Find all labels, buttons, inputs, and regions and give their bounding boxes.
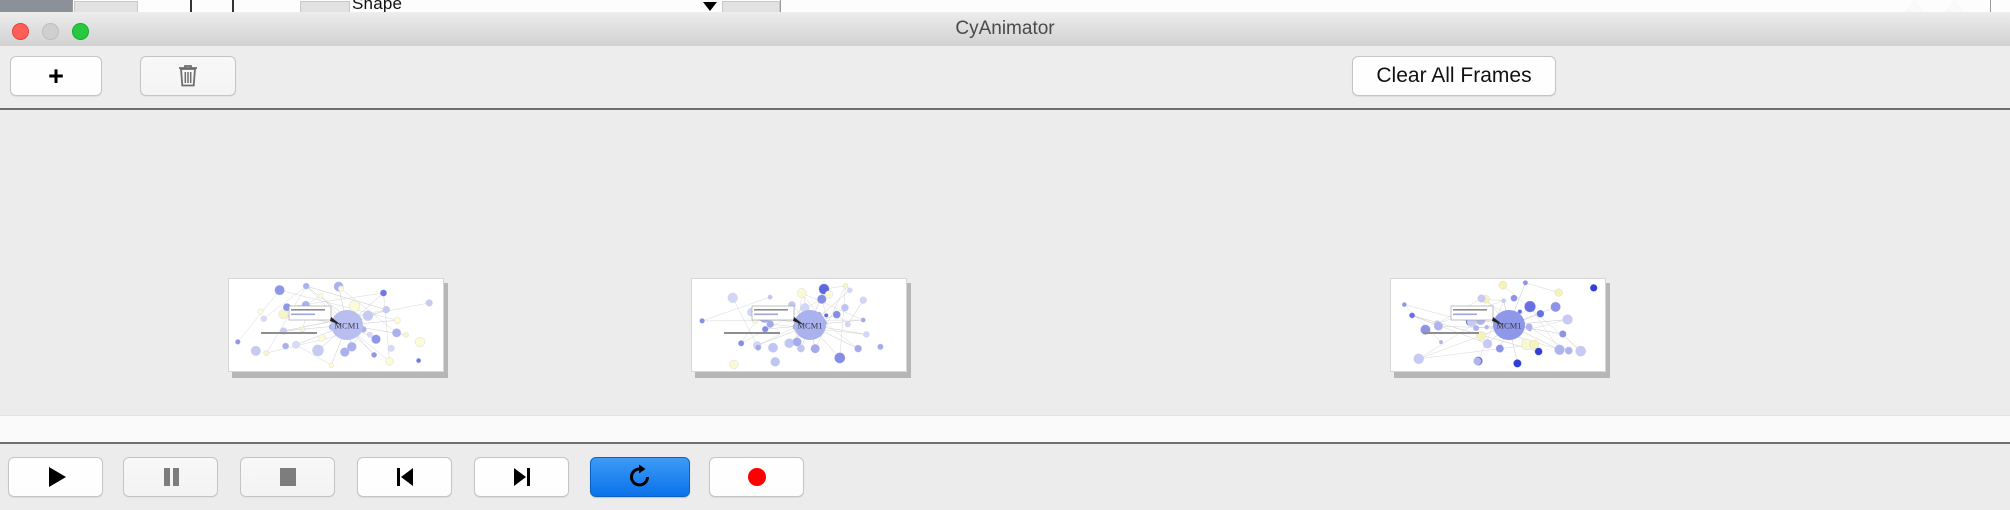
frame-thumbnail[interactable]: MCM1	[228, 278, 448, 376]
svg-text:MCM1: MCM1	[334, 321, 359, 331]
title-bar[interactable]: CyAnimator	[0, 12, 2010, 47]
record-button[interactable]	[709, 457, 804, 497]
timeline-scrollbar-track[interactable]	[0, 415, 2010, 442]
stop-button[interactable]	[240, 457, 335, 497]
timeline-panel[interactable]: MCM1MCM1MCM1 12131415161718 Seconds	[0, 110, 2010, 415]
play-button[interactable]	[8, 457, 103, 497]
frame-thumbnail[interactable]: MCM1	[1390, 278, 1610, 376]
cyanimator-window: Shape CyAnimator + Clear All Frames	[0, 0, 2010, 510]
skip-back-button[interactable]	[357, 457, 452, 497]
add-frame-button[interactable]: +	[10, 56, 102, 96]
play-icon	[43, 464, 69, 490]
svg-text:MCM1: MCM1	[1496, 321, 1521, 331]
skip-forward-icon	[509, 464, 535, 490]
background-window-label: Shape	[352, 0, 402, 12]
pause-button[interactable]	[123, 457, 218, 497]
clear-all-frames-button[interactable]: Clear All Frames	[1352, 56, 1556, 96]
network-graph: MCM1	[1391, 279, 1605, 371]
loop-button[interactable]	[590, 457, 690, 497]
trash-icon	[177, 63, 199, 89]
transport-bar: Animation Speed:	[0, 444, 2010, 510]
frame-thumbnail[interactable]: MCM1	[691, 278, 911, 376]
delete-frame-button[interactable]	[140, 56, 236, 96]
network-graph: MCM1	[692, 279, 906, 371]
svg-text:MCM1: MCM1	[797, 321, 822, 331]
skip-forward-button[interactable]	[474, 457, 569, 497]
loop-icon	[626, 463, 654, 491]
frame-image: MCM1	[1390, 278, 1606, 372]
record-icon	[745, 465, 769, 489]
background-window-strip: Shape	[0, 0, 2010, 12]
plus-icon: +	[48, 63, 64, 90]
skip-back-icon	[392, 464, 418, 490]
background-panel	[0, 0, 72, 12]
stop-icon	[276, 465, 300, 489]
window-title: CyAnimator	[0, 12, 2010, 46]
frame-image: MCM1	[228, 278, 444, 372]
frame-image: MCM1	[691, 278, 907, 372]
background-cursor-icon	[703, 2, 717, 11]
toolbar: + Clear All Frames	[0, 46, 2010, 108]
network-graph: MCM1	[229, 279, 443, 371]
pause-icon	[159, 465, 183, 489]
